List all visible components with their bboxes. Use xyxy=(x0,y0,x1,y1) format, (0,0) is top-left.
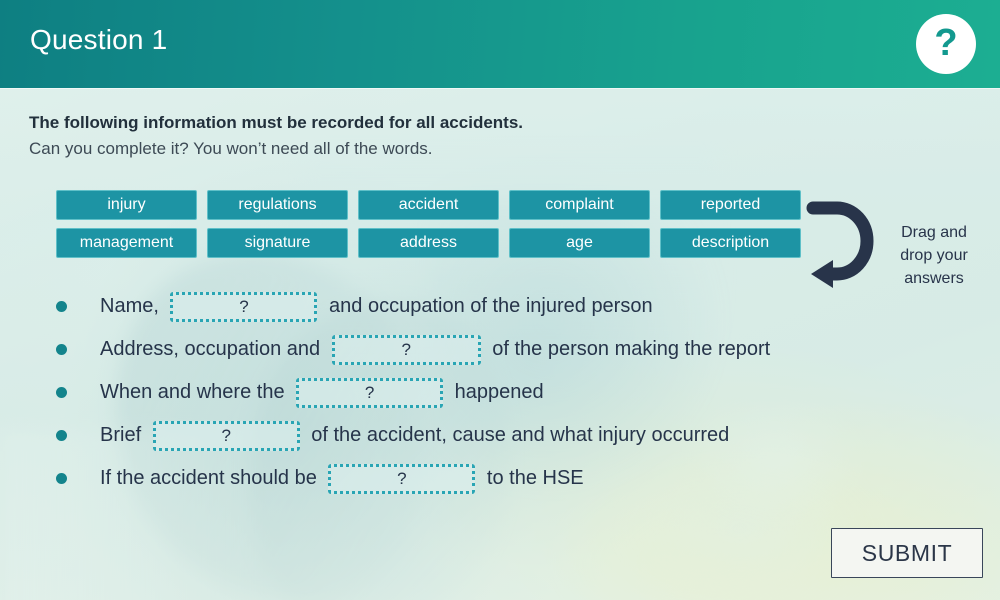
word-bank: injury regulations accident complaint re… xyxy=(56,190,801,266)
word-chip-signature[interactable]: signature xyxy=(207,228,348,258)
question-text-before: Address, occupation and xyxy=(100,338,326,361)
question-text-before: When and where the xyxy=(100,381,290,404)
word-bank-row: injury regulations accident complaint re… xyxy=(56,190,801,220)
drop-zone-2[interactable]: ? xyxy=(332,335,481,365)
bullet-icon xyxy=(56,344,67,355)
drop-zone-4[interactable]: ? xyxy=(153,421,300,451)
question-text-after: and occupation of the injured person xyxy=(323,295,652,318)
word-chip-injury[interactable]: injury xyxy=(56,190,197,220)
question-row-3: When and where the ? happened xyxy=(56,371,956,414)
question-text-after: to the HSE xyxy=(481,467,583,490)
question-text-before: Name, xyxy=(100,295,164,318)
help-glyph: ? xyxy=(934,24,957,62)
word-chip-complaint[interactable]: complaint xyxy=(509,190,650,220)
question-row-5: If the accident should be ? to the HSE xyxy=(56,457,956,500)
submit-button[interactable]: SUBMIT xyxy=(831,528,983,578)
word-chip-management[interactable]: management xyxy=(56,228,197,258)
word-chip-description[interactable]: description xyxy=(660,228,801,258)
bullet-icon xyxy=(56,473,67,484)
drag-hint-label: Drag and drop your answers xyxy=(884,221,984,290)
question-text-before: If the accident should be xyxy=(100,467,322,490)
word-chip-regulations[interactable]: regulations xyxy=(207,190,348,220)
bullet-icon xyxy=(56,387,67,398)
question-row-2: Address, occupation and ? of the person … xyxy=(56,328,956,371)
word-chip-reported[interactable]: reported xyxy=(660,190,801,220)
quiz-screen: Question 1 ? The following information m… xyxy=(0,0,1000,600)
help-button[interactable]: ? xyxy=(916,14,976,74)
drop-zone-3[interactable]: ? xyxy=(296,378,443,408)
question-mark-circle-icon: ? xyxy=(916,14,976,74)
question-list: Name, ? and occupation of the injured pe… xyxy=(56,285,956,500)
drop-zone-5[interactable]: ? xyxy=(328,464,475,494)
question-row-1: Name, ? and occupation of the injured pe… xyxy=(56,285,956,328)
curved-arrow-down-left-icon xyxy=(803,190,875,295)
word-chip-address[interactable]: address xyxy=(358,228,499,258)
prompt-line-2: Can you complete it? You won’t need all … xyxy=(29,139,433,159)
drop-zone-1[interactable]: ? xyxy=(170,292,317,322)
question-row-4: Brief ? of the accident, cause and what … xyxy=(56,414,956,457)
word-bank-row: management signature address age descrip… xyxy=(56,228,801,258)
question-text-before: Brief xyxy=(100,424,147,447)
bullet-icon xyxy=(56,430,67,441)
question-text-after: of the accident, cause and what injury o… xyxy=(306,424,730,447)
question-text-after: happened xyxy=(449,381,544,404)
header-bar: Question 1 ? xyxy=(0,0,1000,88)
word-chip-accident[interactable]: accident xyxy=(358,190,499,220)
word-chip-age[interactable]: age xyxy=(509,228,650,258)
content-area: The following information must be record… xyxy=(0,88,1000,600)
question-text-after: of the person making the report xyxy=(487,338,771,361)
prompt-line-1: The following information must be record… xyxy=(29,113,523,133)
bullet-icon xyxy=(56,301,67,312)
page-title: Question 1 xyxy=(30,24,167,56)
